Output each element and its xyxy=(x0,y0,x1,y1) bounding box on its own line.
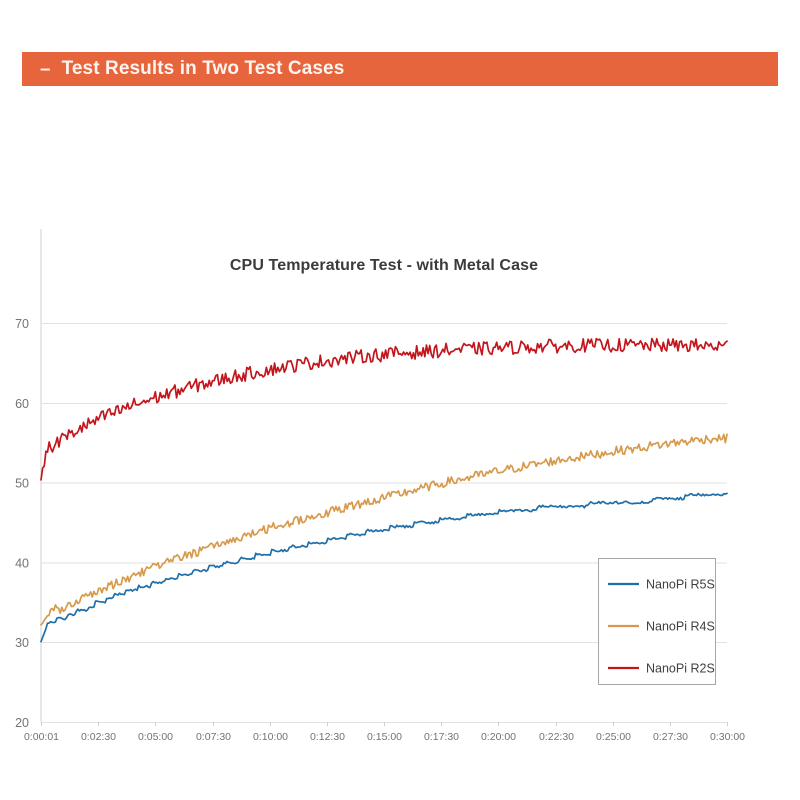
y-tick-label: 20 xyxy=(15,716,29,730)
chart-figure: CPU Temperature Test - with Metal Case 2… xyxy=(0,215,800,775)
x-tick-label: 0:17:30 xyxy=(424,731,459,743)
series-line-nanopi-r2s xyxy=(41,339,727,480)
x-tick-label: 0:05:00 xyxy=(138,731,173,743)
x-tick-label: 0:22:30 xyxy=(539,731,574,743)
section-header-banner: – Test Results in Two Test Cases xyxy=(22,52,778,86)
line-chart-plot: 203040506070 0:00:010:02:300:05:000:07:3… xyxy=(0,215,800,775)
x-tick-label: 0:15:00 xyxy=(367,731,402,743)
x-tick-label: 0:00:01 xyxy=(24,731,59,743)
legend-label: NanoPi R4S xyxy=(646,620,715,634)
y-tick-label: 70 xyxy=(15,317,29,331)
x-tick-label: 0:12:30 xyxy=(310,731,345,743)
x-tick-label: 0:25:00 xyxy=(596,731,631,743)
x-tick-label: 0:10:00 xyxy=(253,731,288,743)
x-tick-label: 0:20:00 xyxy=(481,731,516,743)
collapse-dash-icon[interactable]: – xyxy=(40,60,51,79)
x-tick-label: 0:02:30 xyxy=(81,731,116,743)
y-tick-label: 60 xyxy=(15,397,29,411)
x-axis-tick-labels: 0:00:010:02:300:05:000:07:300:10:000:12:… xyxy=(24,731,745,743)
x-tick-label: 0:07:30 xyxy=(196,731,231,743)
legend-label: NanoPi R2S xyxy=(646,662,715,676)
chart-legend: NanoPi R5SNanoPi R4SNanoPi R2S xyxy=(599,559,716,685)
y-axis-tick-labels: 203040506070 xyxy=(15,317,29,730)
banner-title: Test Results in Two Test Cases xyxy=(62,58,345,80)
y-tick-label: 40 xyxy=(15,556,29,570)
y-tick-label: 30 xyxy=(15,636,29,650)
x-tick-label: 0:30:00 xyxy=(710,731,745,743)
legend-label: NanoPi R5S xyxy=(646,578,715,592)
x-tick-label: 0:27:30 xyxy=(653,731,688,743)
y-tick-label: 50 xyxy=(15,477,29,491)
